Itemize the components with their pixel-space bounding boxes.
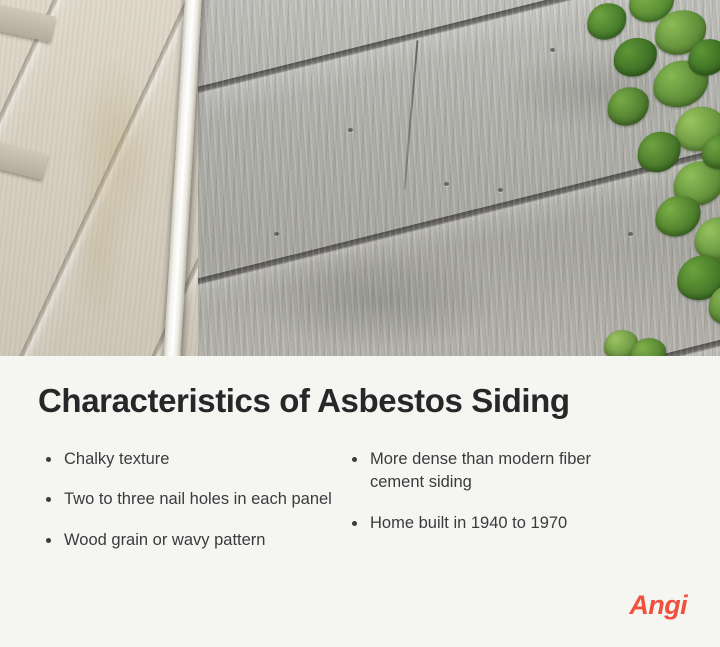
ivy-leaf <box>585 1 629 42</box>
text-panel: Characteristics of Asbestos Siding Chalk… <box>0 356 720 647</box>
panel-butt-joint <box>403 40 418 190</box>
list-item: Home built in 1940 to 1970 <box>350 512 645 535</box>
list-item: More dense than modern fiber cement sidi… <box>350 448 645 495</box>
ivy-leaf <box>611 36 659 79</box>
siding-photo <box>0 0 720 356</box>
ivy-sprig <box>604 322 664 356</box>
ivy-leaf <box>605 85 651 128</box>
list-item: Two to three nail holes in each panel <box>44 488 339 511</box>
angi-logo[interactable]: Angi <box>629 592 687 619</box>
bullet-list-left: Chalky texture Two to three nail holes i… <box>44 448 340 552</box>
bullet-columns: Chalky texture Two to three nail holes i… <box>0 448 720 569</box>
ivy-leaf <box>635 129 684 174</box>
nail-hole <box>348 128 353 132</box>
nail-hole <box>274 232 279 236</box>
nail-hole <box>498 188 503 192</box>
nail-hole <box>444 182 449 186</box>
list-item: Chalky texture <box>44 448 339 471</box>
bullet-list-right: More dense than modern fiber cement sidi… <box>350 448 700 535</box>
bullet-column-right: More dense than modern fiber cement sidi… <box>340 448 700 569</box>
asbestos-siding-infographic: Characteristics of Asbestos Siding Chalk… <box>0 0 720 647</box>
list-item: Wood grain or wavy pattern <box>44 529 339 552</box>
bullet-column-left: Chalky texture Two to three nail holes i… <box>0 448 340 569</box>
page-title: Characteristics of Asbestos Siding <box>38 382 570 420</box>
